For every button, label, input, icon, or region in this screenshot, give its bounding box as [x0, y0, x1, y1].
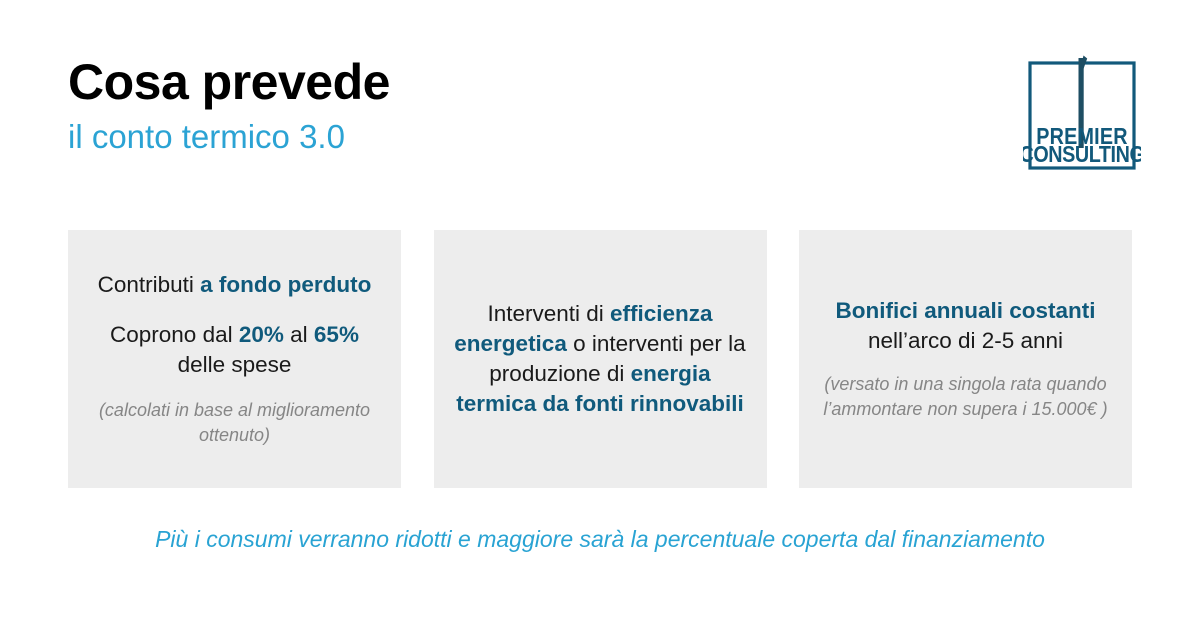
plain-text: (versato in una singola rata quando l’am…	[823, 374, 1107, 419]
plain-text: nell’arco di 2-5 anni	[868, 328, 1063, 353]
logo-line-2: CONSULTING	[1023, 142, 1141, 168]
card-statement: Bonifici annuali costanti nell’arco di 2…	[815, 296, 1116, 356]
highlight-text: a fondo perduto	[200, 272, 371, 297]
highlight-text: 20%	[239, 322, 284, 347]
premier-consulting-logo: PREMIER CONSULTING	[1023, 50, 1141, 175]
footer-caption: Più i consumi verranno ridotti e maggior…	[155, 526, 1045, 554]
plain-text: al	[284, 322, 314, 347]
page-title: Cosa prevede	[68, 56, 768, 109]
card-note: (calcolati in base al miglioramento otte…	[84, 398, 385, 448]
highlight-text: 65%	[314, 322, 359, 347]
card-bonifici: Bonifici annuali costanti nell’arco di 2…	[799, 230, 1132, 488]
header: Cosa prevede il conto termico 3.0	[68, 56, 768, 155]
card-statement: Coprono dal 20% al 65% delle spese	[84, 320, 385, 380]
logo-mark-icon: PREMIER CONSULTING	[1023, 50, 1141, 175]
page-subtitle: il conto termico 3.0	[68, 119, 768, 155]
card-interventi: Interventi di efficienza energetica o in…	[434, 230, 767, 488]
cards-row: Contributi a fondo perdutoCoprono dal 20…	[68, 230, 1132, 488]
highlight-text: Bonifici annuali costanti	[835, 298, 1095, 323]
plain-text: Contributi	[98, 272, 201, 297]
plain-text: Interventi di	[487, 301, 610, 326]
card-statement: Contributi a fondo perduto	[98, 270, 372, 300]
card-contributi: Contributi a fondo perdutoCoprono dal 20…	[68, 230, 401, 488]
card-note: (versato in una singola rata quando l’am…	[815, 372, 1116, 422]
footer: Più i consumi verranno ridotti e maggior…	[0, 526, 1200, 554]
plain-text: (calcolati in base al miglioramento otte…	[99, 400, 370, 445]
card-statement: Interventi di efficienza energetica o in…	[450, 299, 751, 419]
infographic-slide: Cosa prevede il conto termico 3.0 PREMIE…	[0, 0, 1200, 627]
logo-wordmark: PREMIER CONSULTING	[1023, 123, 1141, 167]
plain-text: Coprono dal	[110, 322, 239, 347]
plain-text: delle spese	[178, 352, 292, 377]
